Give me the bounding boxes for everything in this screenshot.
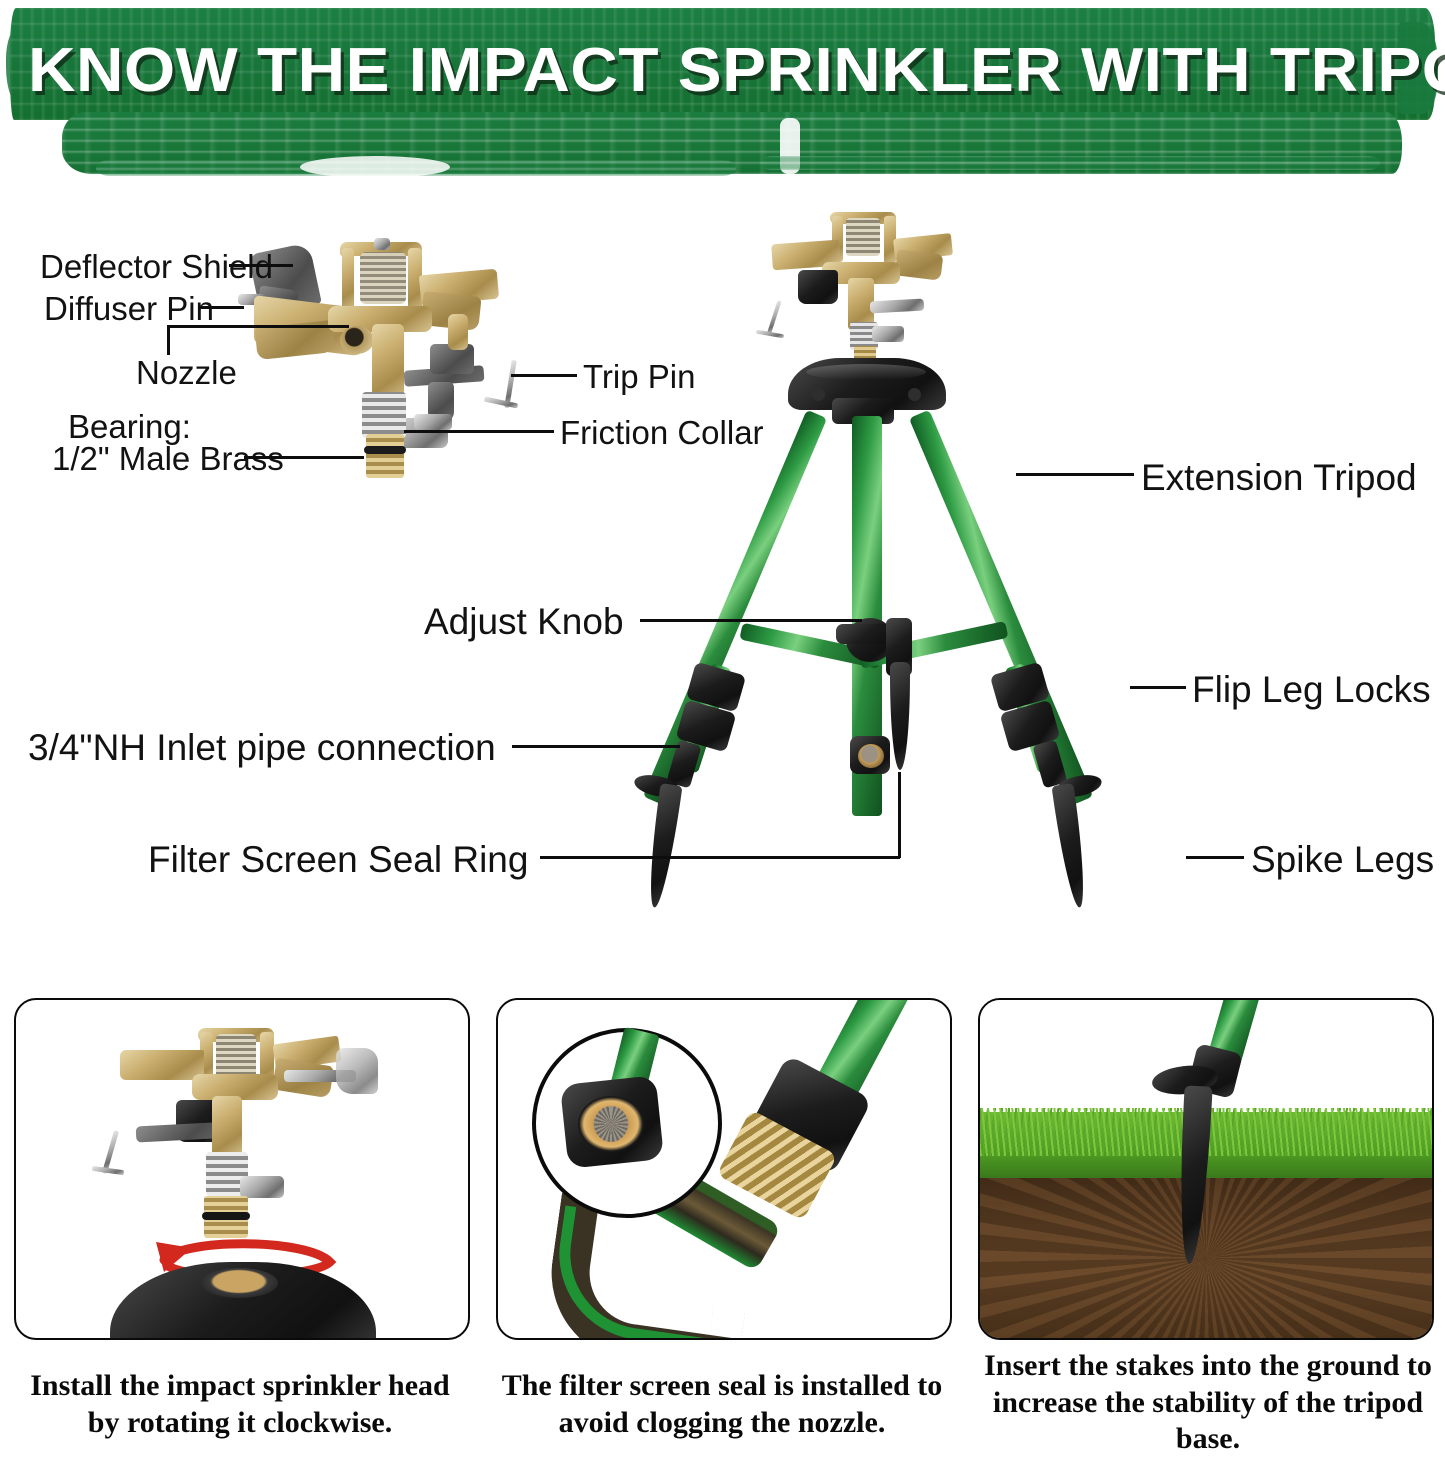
leader-friction-collar [404,430,554,433]
tripod-hub-screw-right [908,388,921,401]
bearing-oring [364,446,406,454]
tripod-head-collar [872,326,904,342]
panel3-soil-texture [980,1178,1432,1338]
leader-adjust-knob [640,619,862,622]
tripod-hub-highlight [806,364,926,380]
panel-filter-screen [496,998,952,1340]
leader-filter-screen-seal-ring-vert [898,772,901,858]
panel1-trip-pin-bend [92,1166,124,1175]
leader-inlet-pipe-connection [512,745,680,748]
label-filter-screen-seal-ring: Filter Screen Seal Ring [148,838,528,882]
tripod-hub-screw-left [812,388,825,401]
bearing-washer-stack [362,392,406,438]
leader-spike-legs [1186,856,1244,859]
sprinkler-vertical-stem [372,324,404,402]
label-bearing-line2: 1/2" Male Brass [52,440,284,479]
panel1-friction-collar [240,1176,284,1198]
leader-deflector-shield [229,264,293,267]
label-diffuser-pin: Diffuser Pin [44,290,214,329]
page-title: KNOW THE IMPACT SPRINKLER WITH TRIPOD [28,40,1445,102]
panel1-left-vane [120,1050,204,1080]
leader-diffuser-pin [198,306,244,309]
leader-bearing [244,456,364,459]
label-nozzle: Nozzle [136,354,237,393]
label-deflector-shield: Deflector Shield [40,248,273,287]
impact-spring [360,252,406,304]
caption-filter-screen: The filter screen seal is installed to a… [490,1368,954,1441]
leader-filter-screen-seal-ring-horiz [540,856,900,859]
tripod-head-trip-pin [767,300,782,335]
trip-post [448,314,468,350]
friction-collar-tab [414,414,452,430]
leader-nozzle-horizontal [167,325,349,328]
brush-gap-notch-lower [300,156,450,178]
filter-screen-seal-ring-bore [858,744,884,768]
spike-left-point [643,783,682,909]
panel1-spring [216,1034,256,1078]
label-extension-tripod: Extension Tripod [1141,456,1417,500]
tripod-rear-spike [890,662,910,770]
tripod-head-right-wing-lower [895,249,944,280]
header-banner: KNOW THE IMPACT SPRINKLER WITH TRIPOD [0,0,1445,195]
leader-nozzle-vertical [167,325,170,355]
tripod-head-trip-lever [870,299,925,314]
brush-wisp-right [760,156,1380,170]
panel-stake-ground [978,998,1434,1340]
label-flip-leg-locks: Flip Leg Locks [1192,668,1431,712]
spike-right-point [1051,783,1090,909]
tripod-head-spring [846,218,880,256]
caption-install-head: Install the impact sprinkler head by rot… [14,1368,466,1441]
nozzle-part [340,326,374,354]
trip-pin-bend [484,397,518,409]
leader-extension-tripod [1016,473,1134,476]
tripod-head-deflector [798,270,838,304]
panel-install-head [14,998,470,1340]
label-adjust-knob: Adjust Knob [424,600,624,644]
panel1-hub-bore [200,1268,278,1298]
bearing-male-thread [366,434,404,478]
panel2-filter-screen-mesh [594,1106,628,1142]
panel1-stem [212,1096,242,1158]
panel1-oring [202,1212,250,1220]
impact-arm-frame-left-post [342,248,354,312]
leader-flip-leg-locks [1130,686,1186,689]
tripod-leg-right-upper [909,410,1093,805]
frame-top-screw [374,238,390,250]
tripod-illustration [560,200,1220,960]
caption-stake-ground: Insert the stakes into the ground to inc… [978,1348,1438,1458]
panel1-deflector-clear [336,1048,378,1094]
label-inlet-pipe-connection: 3/4"NH Inlet pipe connection [28,726,496,770]
label-spike-legs: Spike Legs [1251,838,1434,882]
